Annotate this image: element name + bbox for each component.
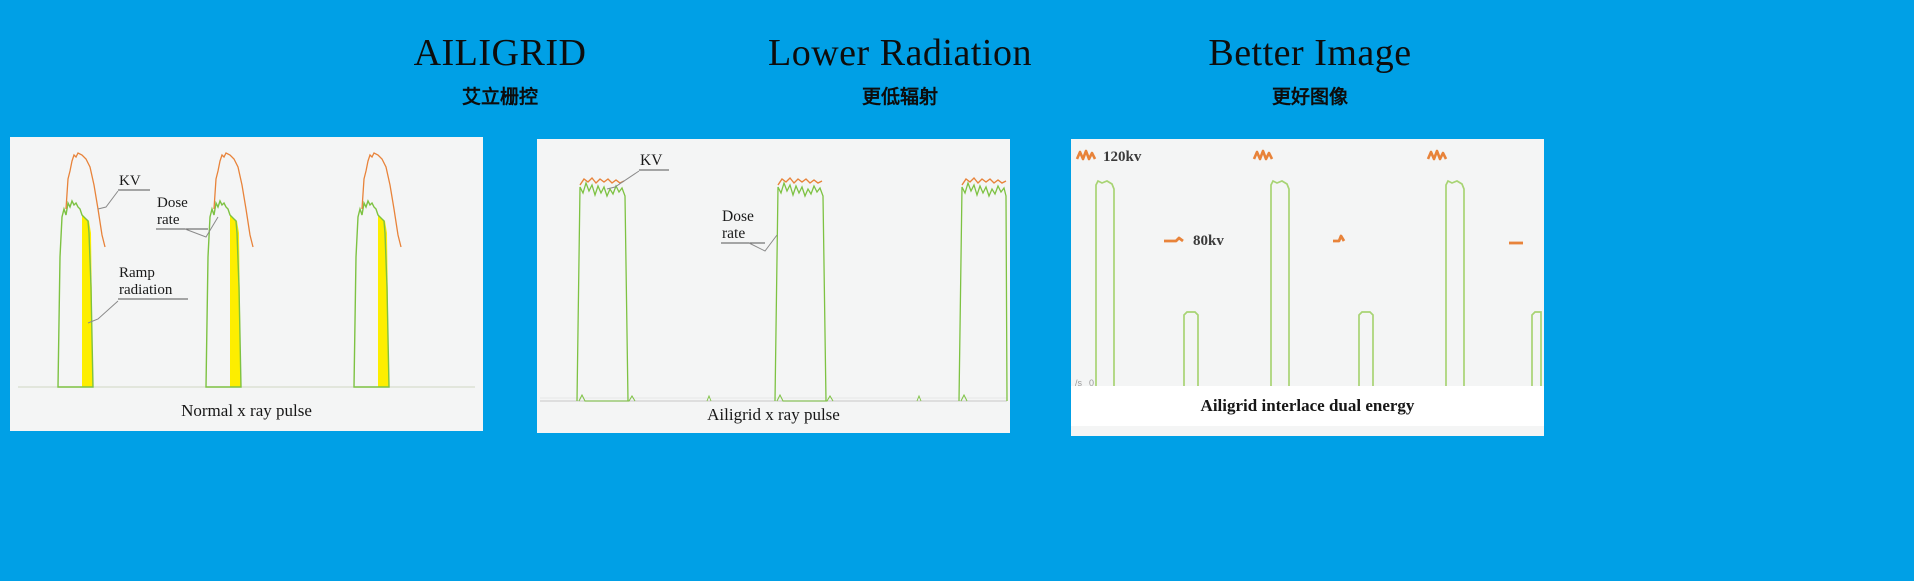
panel-ailigrid-x-ray-pulse: KV Dose rate Ailigrid x ray pulse xyxy=(537,139,1010,433)
annotation-dose-rate-line2: rate xyxy=(722,225,745,242)
legend-120kv-label: 120kv xyxy=(1103,149,1142,165)
title-sub-better-image: 更好图像 xyxy=(1030,82,1590,112)
title-group-better-image: Better Image 更好图像 xyxy=(1030,30,1590,112)
title-sub-ailigrid: 艾立栅控 xyxy=(360,82,640,112)
annotation-kv-label: KV xyxy=(119,173,141,189)
panel-caption-ailigrid: Ailigrid x ray pulse xyxy=(537,405,1010,425)
panel-caption-dual-energy: Ailigrid interlace dual energy xyxy=(1071,386,1544,426)
chart-normal-x-ray-pulse: KV Dose rate Ramp radiation xyxy=(10,137,483,390)
legend-120kv: 120kv xyxy=(1077,149,1142,165)
annotation-kv: KV xyxy=(98,173,150,209)
dose-rate-pulse xyxy=(577,178,635,401)
annotation-ramp-line2: radiation xyxy=(119,282,173,298)
pulse-80kv xyxy=(1184,312,1541,391)
panel-normal-x-ray-pulse: KV Dose rate Ramp radiation Normal x ray… xyxy=(10,137,483,431)
panel-ailigrid-interlace-dual-energy: 120kv 80kv xyxy=(1071,139,1544,436)
chart-ailigrid-x-ray-pulse: KV Dose rate xyxy=(537,139,1010,407)
title-main-ailigrid: AILIGRID xyxy=(360,30,640,76)
legend-marker-80kv-repeat xyxy=(1333,236,1523,243)
legend-marker-120kv-repeat xyxy=(1254,151,1446,159)
title-group-ailigrid: AILIGRID 艾立栅控 xyxy=(360,30,640,112)
dose-rate-pulse xyxy=(775,178,833,401)
annotation-dose-rate-line1: Dose xyxy=(722,208,754,225)
annotation-ramp-line1: Ramp xyxy=(119,265,155,281)
legend-80kv-label: 80kv xyxy=(1193,233,1224,249)
annotation-dose-rate: Dose rate xyxy=(721,208,777,251)
panel-caption-normal: Normal x ray pulse xyxy=(10,401,483,421)
annotation-dose-rate-line1: Dose xyxy=(157,195,188,211)
annotation-ramp-radiation: Ramp radiation xyxy=(88,265,188,323)
annotation-kv: KV xyxy=(607,152,669,189)
title-main-better-image: Better Image xyxy=(1030,30,1590,76)
annotation-kv-label: KV xyxy=(640,152,663,169)
legend-80kv: 80kv xyxy=(1164,233,1224,249)
dose-rate-pulse xyxy=(959,178,1007,401)
pulse-120kv xyxy=(1096,181,1464,391)
annotation-dose-rate-line2: rate xyxy=(157,212,180,228)
chart-ailigrid-interlace-dual-energy: 120kv 80kv xyxy=(1071,139,1544,397)
header-banner: AILIGRID 艾立栅控 Lower Radiation 更低辐射 Bette… xyxy=(0,0,1914,140)
